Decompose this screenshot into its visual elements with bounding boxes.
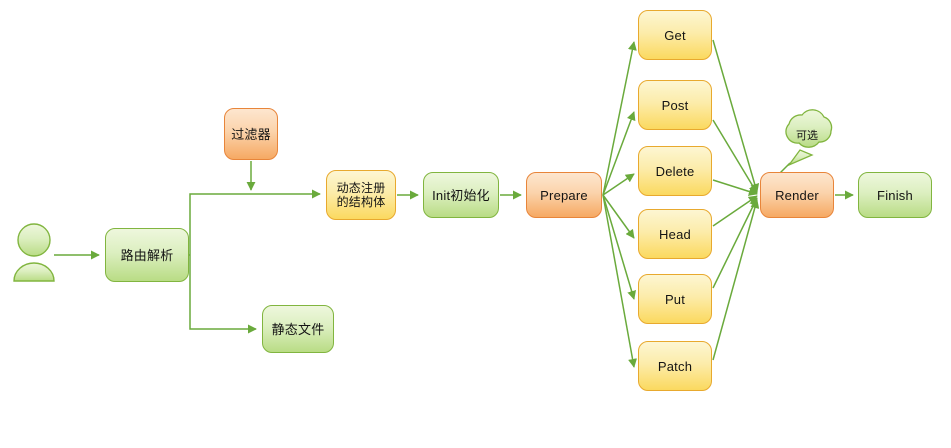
edge-prepare-to-post xyxy=(603,112,634,195)
edge-prepare-to-head xyxy=(603,195,634,238)
node-get[interactable]: Get xyxy=(638,10,712,60)
node-dynamic-struct-label: 动态注册 的结构体 xyxy=(337,181,386,209)
node-init-label: Init初始化 xyxy=(432,188,490,203)
node-finish[interactable]: Finish xyxy=(858,172,932,218)
edge-get-to-render xyxy=(713,40,757,192)
node-head[interactable]: Head xyxy=(638,209,712,259)
node-render-label: Render xyxy=(775,188,819,203)
node-delete-label: Delete xyxy=(656,164,695,179)
node-post-label: Post xyxy=(662,98,689,113)
node-patch[interactable]: Patch xyxy=(638,341,712,391)
node-route-parse-label: 路由解析 xyxy=(121,248,174,263)
node-put-label: Put xyxy=(665,292,685,307)
node-prepare-label: Prepare xyxy=(540,188,588,203)
node-route-parse[interactable]: 路由解析 xyxy=(105,228,189,282)
node-delete[interactable]: Delete xyxy=(638,146,712,196)
flowchart-canvas: 可选 路由解析 过滤器 静态文件 动态注册 的结构体 Init初始化 Prepa… xyxy=(0,0,951,448)
node-render[interactable]: Render xyxy=(760,172,834,218)
cloud-label: 可选 xyxy=(786,127,828,143)
node-patch-label: Patch xyxy=(658,359,692,374)
node-static-file-label: 静态文件 xyxy=(272,322,325,337)
node-prepare[interactable]: Prepare xyxy=(526,172,602,218)
user-actor xyxy=(14,224,54,281)
node-dynamic-struct[interactable]: 动态注册 的结构体 xyxy=(326,170,396,220)
node-static-file[interactable]: 静态文件 xyxy=(262,305,334,353)
node-post[interactable]: Post xyxy=(638,80,712,130)
edge-patch-to-render xyxy=(713,200,757,360)
node-head-label: Head xyxy=(659,227,691,242)
edge-route-to-struct xyxy=(190,194,320,255)
edge-prepare-to-get xyxy=(603,42,634,195)
edge-layer xyxy=(0,0,951,448)
node-put[interactable]: Put xyxy=(638,274,712,324)
node-finish-label: Finish xyxy=(877,188,913,203)
edge-route-to-static xyxy=(190,255,256,329)
node-init[interactable]: Init初始化 xyxy=(423,172,499,218)
node-get-label: Get xyxy=(664,28,686,43)
node-filter-label: 过滤器 xyxy=(231,127,271,142)
node-filter[interactable]: 过滤器 xyxy=(224,108,278,160)
